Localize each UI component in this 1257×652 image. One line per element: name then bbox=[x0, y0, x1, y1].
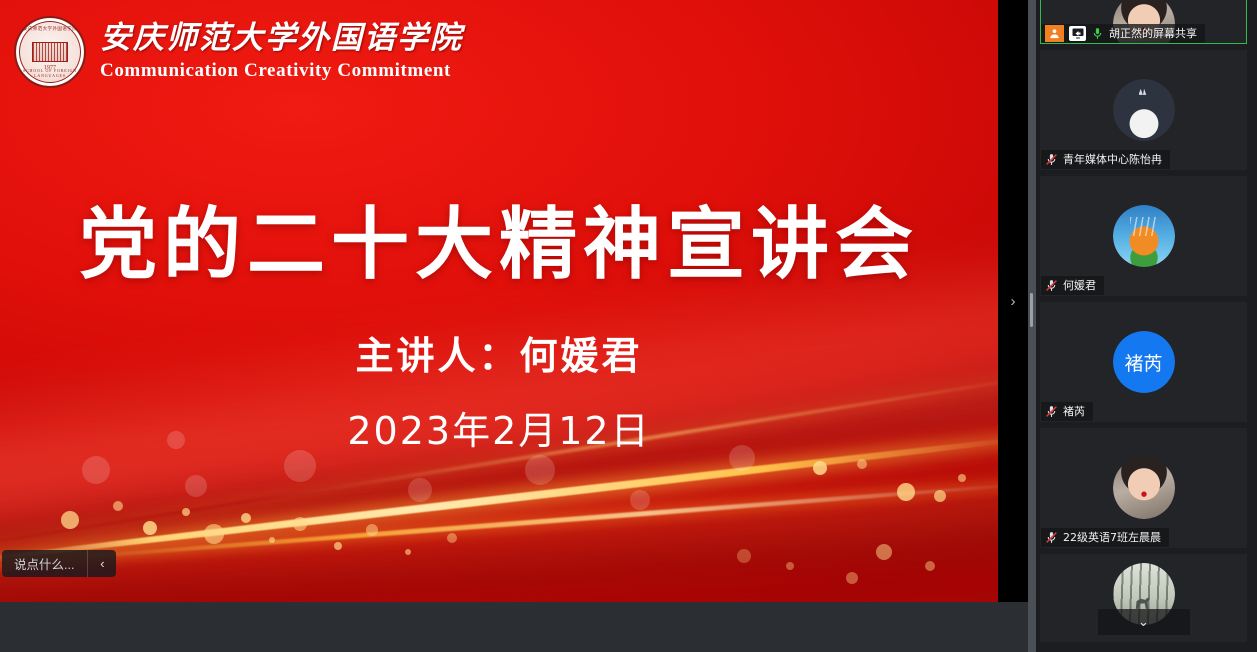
participant-name: 褚芮 bbox=[1063, 406, 1085, 417]
participant-label: 何媛君 bbox=[1041, 276, 1104, 295]
mic-on-icon bbox=[1091, 27, 1104, 40]
mic-off-icon bbox=[1045, 531, 1058, 544]
participant-label: 褚芮 bbox=[1041, 402, 1093, 421]
sidebar-toggle-button[interactable]: › bbox=[998, 0, 1028, 602]
meeting-bottom-bar bbox=[0, 602, 1028, 652]
avatar bbox=[1113, 457, 1175, 519]
chat-composer[interactable]: 说点什么... ‹ bbox=[2, 550, 116, 577]
chat-input[interactable]: 说点什么... bbox=[2, 550, 88, 577]
slide-decor-sheen bbox=[0, 434, 998, 602]
crest-building-icon bbox=[32, 42, 68, 62]
crest-ring-top-text: 安庆师范大学外国语学院 bbox=[16, 26, 84, 32]
slide-decor-ribbon bbox=[0, 363, 998, 551]
participant-label: 青年媒体中心陈怡冉 bbox=[1041, 150, 1170, 169]
participant-name: 胡正然的屏幕共享 bbox=[1109, 28, 1197, 39]
participant-tile[interactable]: 褚芮 褚芮 bbox=[1040, 302, 1247, 422]
panel-resize-handle[interactable] bbox=[1028, 0, 1036, 652]
university-crest-icon: 安庆师范大学外国语学院 1977 SCHOOL OF FOREIGN LANGU… bbox=[14, 16, 86, 88]
participant-filmstrip[interactable]: 胡正然的屏幕共享 青年媒体中心陈怡冉 何 bbox=[1036, 0, 1257, 652]
participant-label: 22级英语7班左晨晨 bbox=[1041, 528, 1169, 547]
slide-speaker: 主讲人：何媛君 bbox=[0, 325, 998, 380]
slide-date: 2023年2月12日 bbox=[0, 400, 998, 455]
participant-tile[interactable]: ⌄ bbox=[1040, 554, 1247, 642]
participant-name: 何媛君 bbox=[1063, 280, 1096, 291]
shared-screen-stage[interactable]: 安庆师范大学外国语学院 1977 SCHOOL OF FOREIGN LANGU… bbox=[0, 0, 1028, 602]
avatar: 褚芮 bbox=[1113, 331, 1175, 393]
host-icon bbox=[1045, 25, 1064, 42]
presentation-slide: 安庆师范大学外国语学院 1977 SCHOOL OF FOREIGN LANGU… bbox=[0, 0, 998, 602]
screen-share-icon bbox=[1069, 26, 1086, 41]
participant-label: 胡正然的屏幕共享 bbox=[1041, 24, 1205, 43]
chevron-down-icon: ⌄ bbox=[1138, 614, 1149, 630]
organization-name-cn: 安庆师范大学外国语学院 bbox=[100, 22, 463, 55]
participant-tile[interactable]: 何媛君 bbox=[1040, 176, 1247, 296]
zoom-meeting-window: 安庆师范大学外国语学院 1977 SCHOOL OF FOREIGN LANGU… bbox=[0, 0, 1257, 652]
mic-off-icon bbox=[1045, 153, 1058, 166]
participant-name: 青年媒体中心陈怡冉 bbox=[1063, 154, 1162, 165]
slide-decor-ribbon bbox=[0, 475, 998, 570]
crest-ring-bottom-text: SCHOOL OF FOREIGN LANGUAGES bbox=[16, 68, 84, 78]
slide-decor-bokeh bbox=[0, 0, 998, 602]
participant-name: 22级英语7班左晨晨 bbox=[1063, 532, 1161, 543]
avatar-image bbox=[1113, 205, 1175, 267]
chevron-right-icon: › bbox=[1011, 294, 1016, 309]
avatar bbox=[1113, 79, 1175, 141]
avatar-image bbox=[1113, 457, 1175, 519]
mic-off-icon bbox=[1045, 405, 1058, 418]
slide-title: 党的二十大精神宣讲会 bbox=[0, 182, 998, 294]
slide-decor-band bbox=[0, 477, 998, 602]
participant-tile[interactable]: 22级英语7班左晨晨 bbox=[1040, 428, 1247, 548]
avatar-image bbox=[1113, 79, 1175, 141]
avatar bbox=[1113, 205, 1175, 267]
mic-off-icon bbox=[1045, 279, 1058, 292]
avatar-initials: 褚芮 bbox=[1113, 331, 1175, 393]
filmstrip-scroll-down-button[interactable]: ⌄ bbox=[1098, 609, 1190, 635]
chat-collapse-button[interactable]: ‹ bbox=[88, 550, 116, 577]
participant-tile[interactable]: 青年媒体中心陈怡冉 bbox=[1040, 50, 1247, 170]
participant-tile[interactable]: 胡正然的屏幕共享 bbox=[1040, 0, 1247, 44]
chevron-left-icon: ‹ bbox=[100, 556, 104, 571]
slide-header: 安庆师范大学外国语学院 1977 SCHOOL OF FOREIGN LANGU… bbox=[14, 16, 463, 88]
organization-name-en: Communication Creativity Commitment bbox=[100, 60, 463, 82]
